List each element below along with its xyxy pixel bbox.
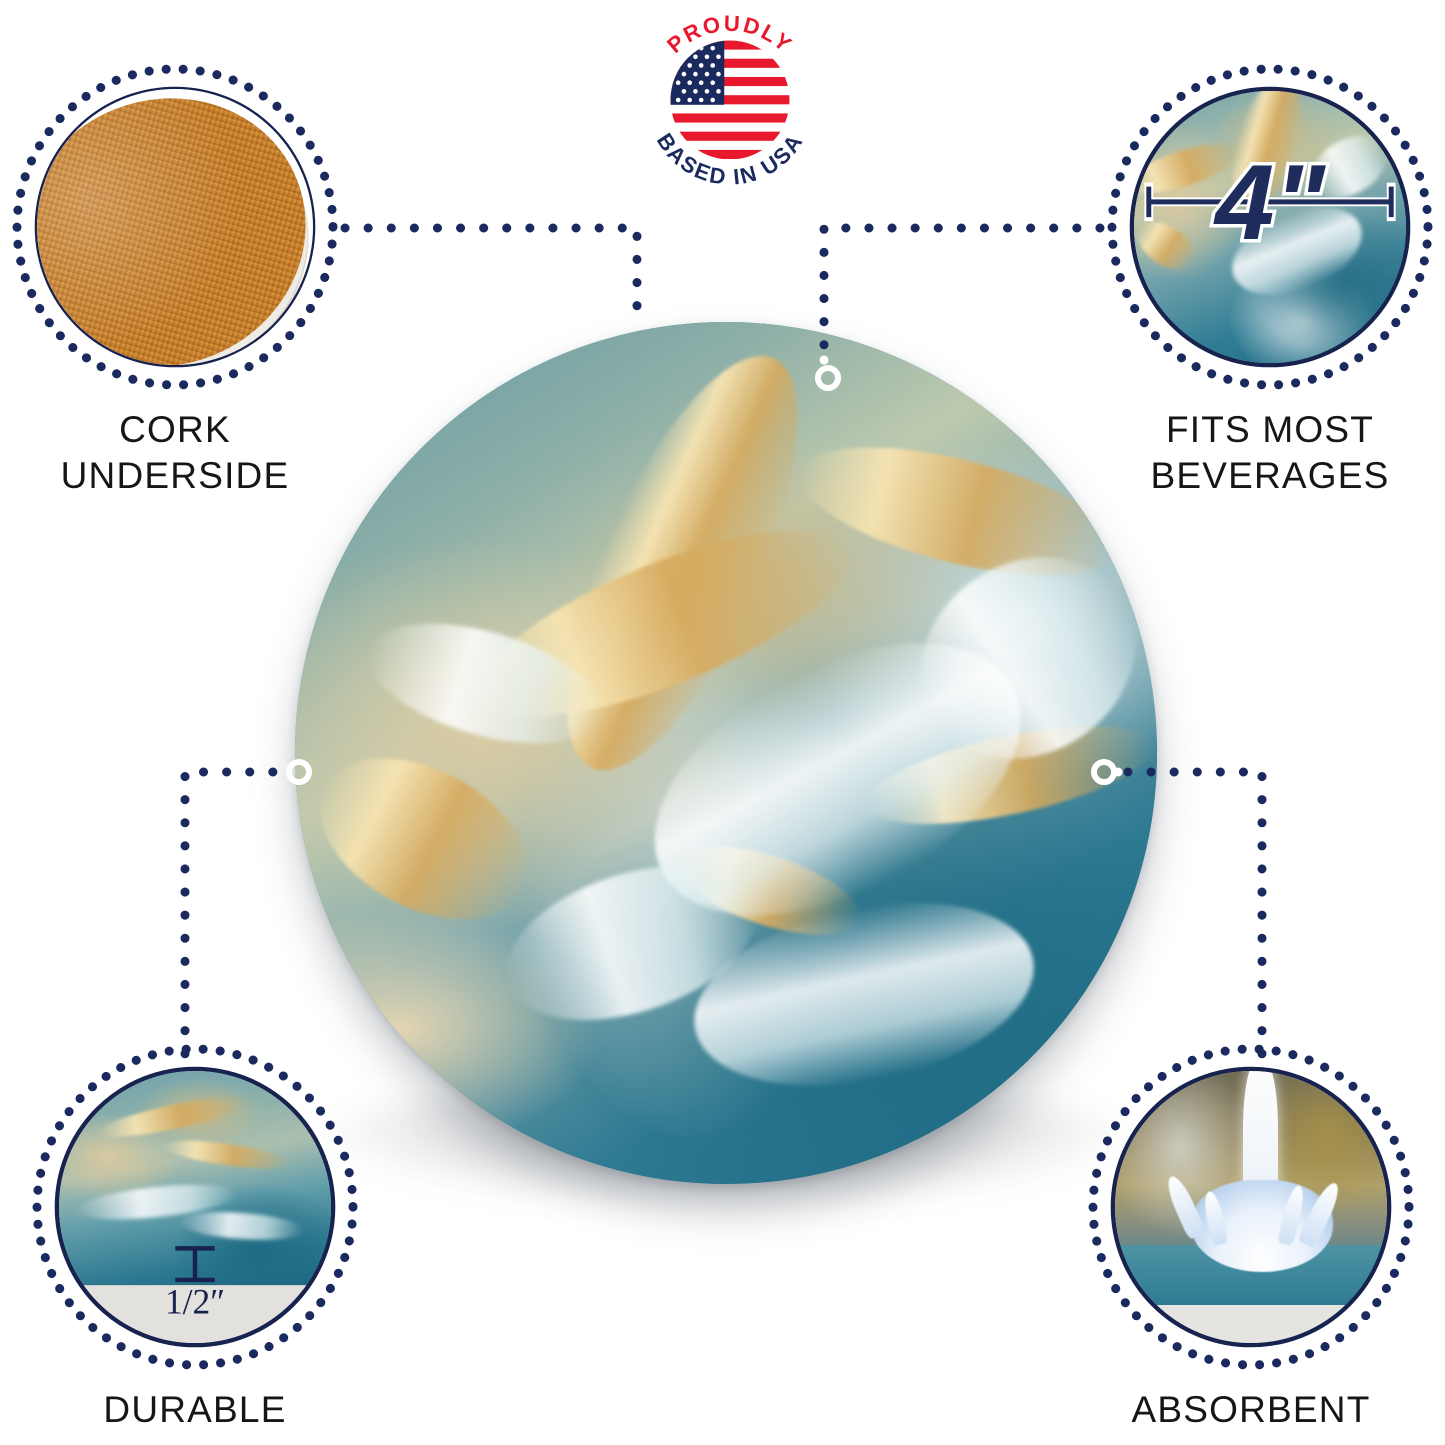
splash-coaster-base <box>1115 1305 1387 1343</box>
liquid-splash-image <box>1113 1069 1389 1345</box>
coaster-edge-cross-section-image: 1/2″ <box>57 1069 333 1345</box>
callout-label-fits-most-beverages: FITS MOST BEVERAGES <box>1060 407 1445 499</box>
callout-durable[interactable]: 1/2″ DURABLE <box>30 1042 360 1372</box>
product-coaster-image <box>295 322 1157 1184</box>
callout-marker-fits-most <box>815 365 841 391</box>
thickness-dimension-graphic: 1/2″ <box>59 1071 331 1343</box>
callout-cork-underside[interactable]: CORK UNDERSIDE <box>10 62 340 392</box>
width-dimension-graphic: 4" <box>1134 91 1406 363</box>
callout-marker-durable <box>286 759 312 785</box>
marble-closeup-image: 4" <box>1132 89 1408 365</box>
callout-label-cork-underside: CORK UNDERSIDE <box>0 407 385 499</box>
callout-label-durable: DURABLE <box>0 1387 405 1433</box>
connector-cork-underside <box>345 228 637 322</box>
dimension-value-4in: 4" <box>1213 143 1326 262</box>
dimension-value-half-inch: 1/2″ <box>165 1281 225 1321</box>
cork-surface <box>37 89 313 365</box>
infographic-canvas: PROUDLY BASED IN USA CORK UNDERSIDE <box>0 0 1445 1445</box>
callout-fits-most-beverages[interactable]: 4" FITS MOST BEVERAGES <box>1105 62 1435 392</box>
cork-disc-image <box>37 89 313 365</box>
usa-flag-icon <box>670 40 789 159</box>
callout-label-absorbent: ABSORBENT <box>1041 1387 1445 1433</box>
proudly-based-in-usa-badge: PROUDLY BASED IN USA <box>634 2 826 198</box>
callout-absorbent[interactable]: ABSORBENT <box>1086 1042 1416 1372</box>
callout-marker-absorbent <box>1091 759 1117 785</box>
